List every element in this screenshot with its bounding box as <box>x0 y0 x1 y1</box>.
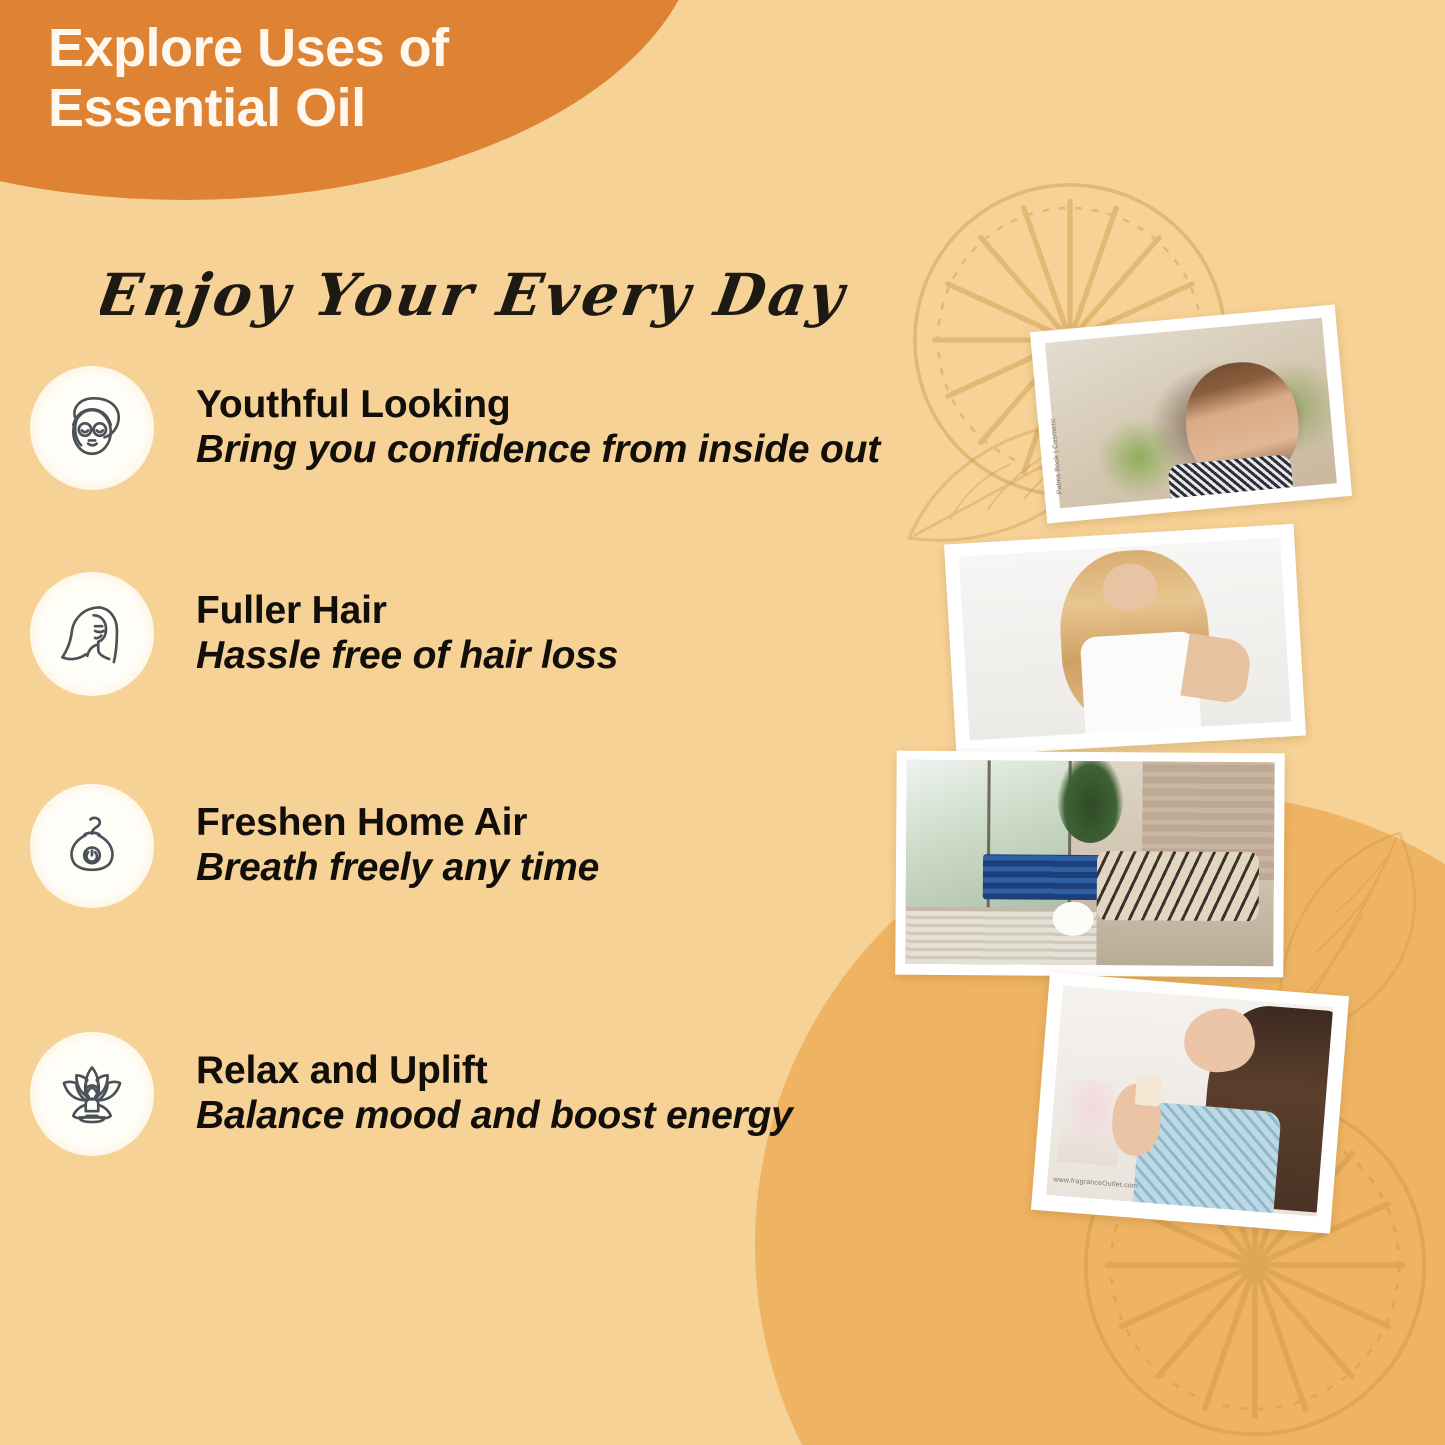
feature-row-youthful-looking: Youthful Looking Bring you confidence fr… <box>30 366 1040 490</box>
script-headline-text: Enjoy Your Every Day <box>100 260 853 329</box>
script-headline: Enjoy Your Every Day <box>100 253 860 343</box>
photo-blue-textile <box>983 854 1105 900</box>
feature-text-freshen-home-air: Freshen Home Air Breath freely any time <box>196 800 599 892</box>
page-title-line-1: Explore Uses of <box>48 18 668 78</box>
feature-subtitle: Breath freely any time <box>196 845 599 892</box>
poster-canvas: Explore Uses of Essential Oil Enjoy Your… <box>0 0 1445 1445</box>
feature-subtitle: Bring you confidence from inside out <box>196 427 880 474</box>
feature-text-fuller-hair: Fuller Hair Hassle free of hair loss <box>196 588 618 680</box>
aroma-diffuser-icon <box>30 784 154 908</box>
lotus-meditation-icon <box>30 1032 154 1156</box>
page-title: Explore Uses of Essential Oil <box>48 18 668 139</box>
feature-text-relax-and-uplift: Relax and Uplift Balance mood and boost … <box>196 1048 793 1140</box>
feature-subtitle: Hassle free of hair loss <box>196 633 618 680</box>
photo-boho-living-room <box>895 751 1285 978</box>
photo-woman-applying-perfume: www.fragranceOutlet.com <box>1031 972 1349 1233</box>
photo-subject-torso <box>1168 454 1293 501</box>
feature-row-relax-and-uplift: Relax and Uplift Balance mood and boost … <box>30 1032 1040 1156</box>
feature-row-freshen-home-air: Freshen Home Air Breath freely any time <box>30 784 1040 908</box>
photo-cushions <box>1097 851 1259 921</box>
feature-title: Relax and Uplift <box>196 1048 793 1093</box>
photo-perfume-bottle <box>1135 1076 1162 1107</box>
photo-image <box>905 760 1274 967</box>
photo-image <box>959 538 1291 741</box>
feature-subtitle: Balance mood and boost energy <box>196 1093 793 1140</box>
photo-smiling-woman-cafe: Palms Book | Cosmetic <box>1030 305 1352 524</box>
face-mask-icon <box>30 366 154 490</box>
page-title-line-2: Essential Oil <box>48 78 668 138</box>
photo-subject-arm <box>1180 633 1253 704</box>
feature-title: Freshen Home Air <box>196 800 599 845</box>
feature-title: Youthful Looking <box>196 382 880 427</box>
photo-image <box>1045 318 1337 509</box>
feature-text-youthful-looking: Youthful Looking Bring you confidence fr… <box>196 382 880 474</box>
feature-title: Fuller Hair <box>196 588 618 633</box>
feature-row-fuller-hair: Fuller Hair Hassle free of hair loss <box>30 572 1040 696</box>
long-hair-profile-icon <box>30 572 154 696</box>
photo-plant <box>1057 760 1124 843</box>
photo-diffuser-lamp <box>1053 902 1094 937</box>
photo-blonde-wavy-hair <box>944 524 1306 756</box>
